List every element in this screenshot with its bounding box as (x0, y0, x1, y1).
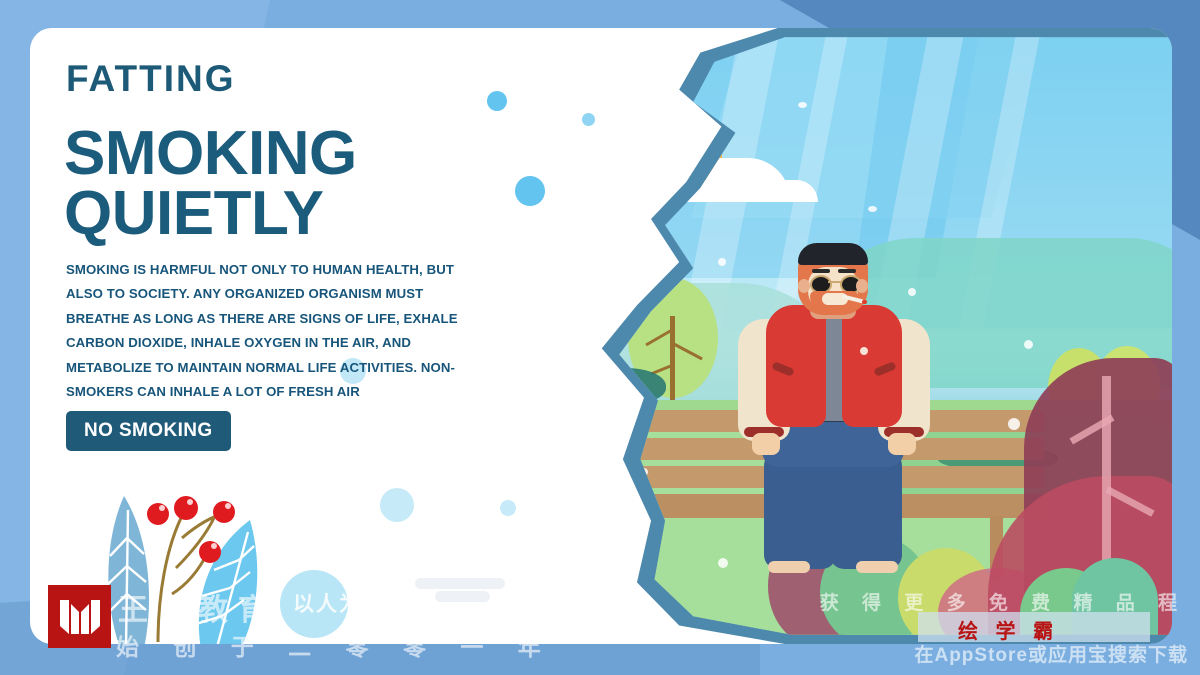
shrub (528, 376, 638, 410)
w-logo-icon (57, 596, 103, 638)
page-eyebrow: FATTING (66, 58, 236, 100)
snow-fleck (616, 378, 624, 386)
cigarette-ember (862, 300, 867, 304)
body-paragraph: SMOKING IS HARMFUL NOT ONLY TO HUMAN HEA… (66, 258, 466, 405)
bush-pink (506, 466, 580, 636)
man-cap-icon (798, 243, 868, 265)
seated-man-icon (738, 243, 928, 573)
snow-fleck (798, 102, 807, 108)
tree-branch (584, 335, 605, 347)
snow-fleck (718, 258, 726, 266)
man-ear-right (856, 279, 868, 293)
headline-line-2: QUIETLY (64, 184, 484, 244)
wangshi-logo (48, 585, 111, 648)
watermark-slogan: 以人为 (293, 588, 362, 618)
tree-trunk (582, 320, 586, 400)
man-shoe-left (768, 561, 810, 573)
snow-fleck (868, 206, 877, 212)
page-title: SMOKING QUIETLY (64, 124, 484, 243)
watermark-promo-bottom: 在AppStore或应用宝搜索下载 (914, 640, 1188, 667)
headline-line-1: SMOKING (64, 119, 357, 188)
man-hand-left (752, 433, 780, 455)
decor-dot (380, 488, 414, 522)
watermark-promo-top: 获 得 更 多 免 费 精 品 程 (820, 588, 1186, 615)
man-eyebrow-left (812, 269, 830, 273)
man-shoe-right (856, 561, 898, 573)
illustration-scene (468, 28, 1172, 644)
man-hand-right (888, 433, 916, 455)
illustration (468, 28, 1172, 644)
man-vest-button (860, 347, 868, 355)
snow-fleck (578, 328, 590, 340)
tree-crown (554, 266, 616, 350)
poster-canvas: FATTING SMOKING QUIETLY SMOKING IS HARMF… (0, 0, 1200, 675)
man-ear-left (798, 279, 810, 293)
bench-leg (618, 516, 631, 572)
no-smoking-button[interactable]: NO SMOKING (66, 411, 231, 451)
snow-fleck (718, 558, 728, 568)
poster-card: FATTING SMOKING QUIETLY SMOKING IS HARMF… (30, 28, 1172, 644)
snow-fleck (1008, 418, 1020, 430)
snow-fleck (1024, 340, 1033, 349)
sunglasses-bridge (828, 281, 842, 283)
tree-branch (565, 323, 586, 336)
snow-fleck (604, 124, 613, 130)
man-eyebrow-right (838, 269, 856, 273)
watermark-founded: 始 创 于 二 零 零 一 年 (116, 628, 555, 662)
